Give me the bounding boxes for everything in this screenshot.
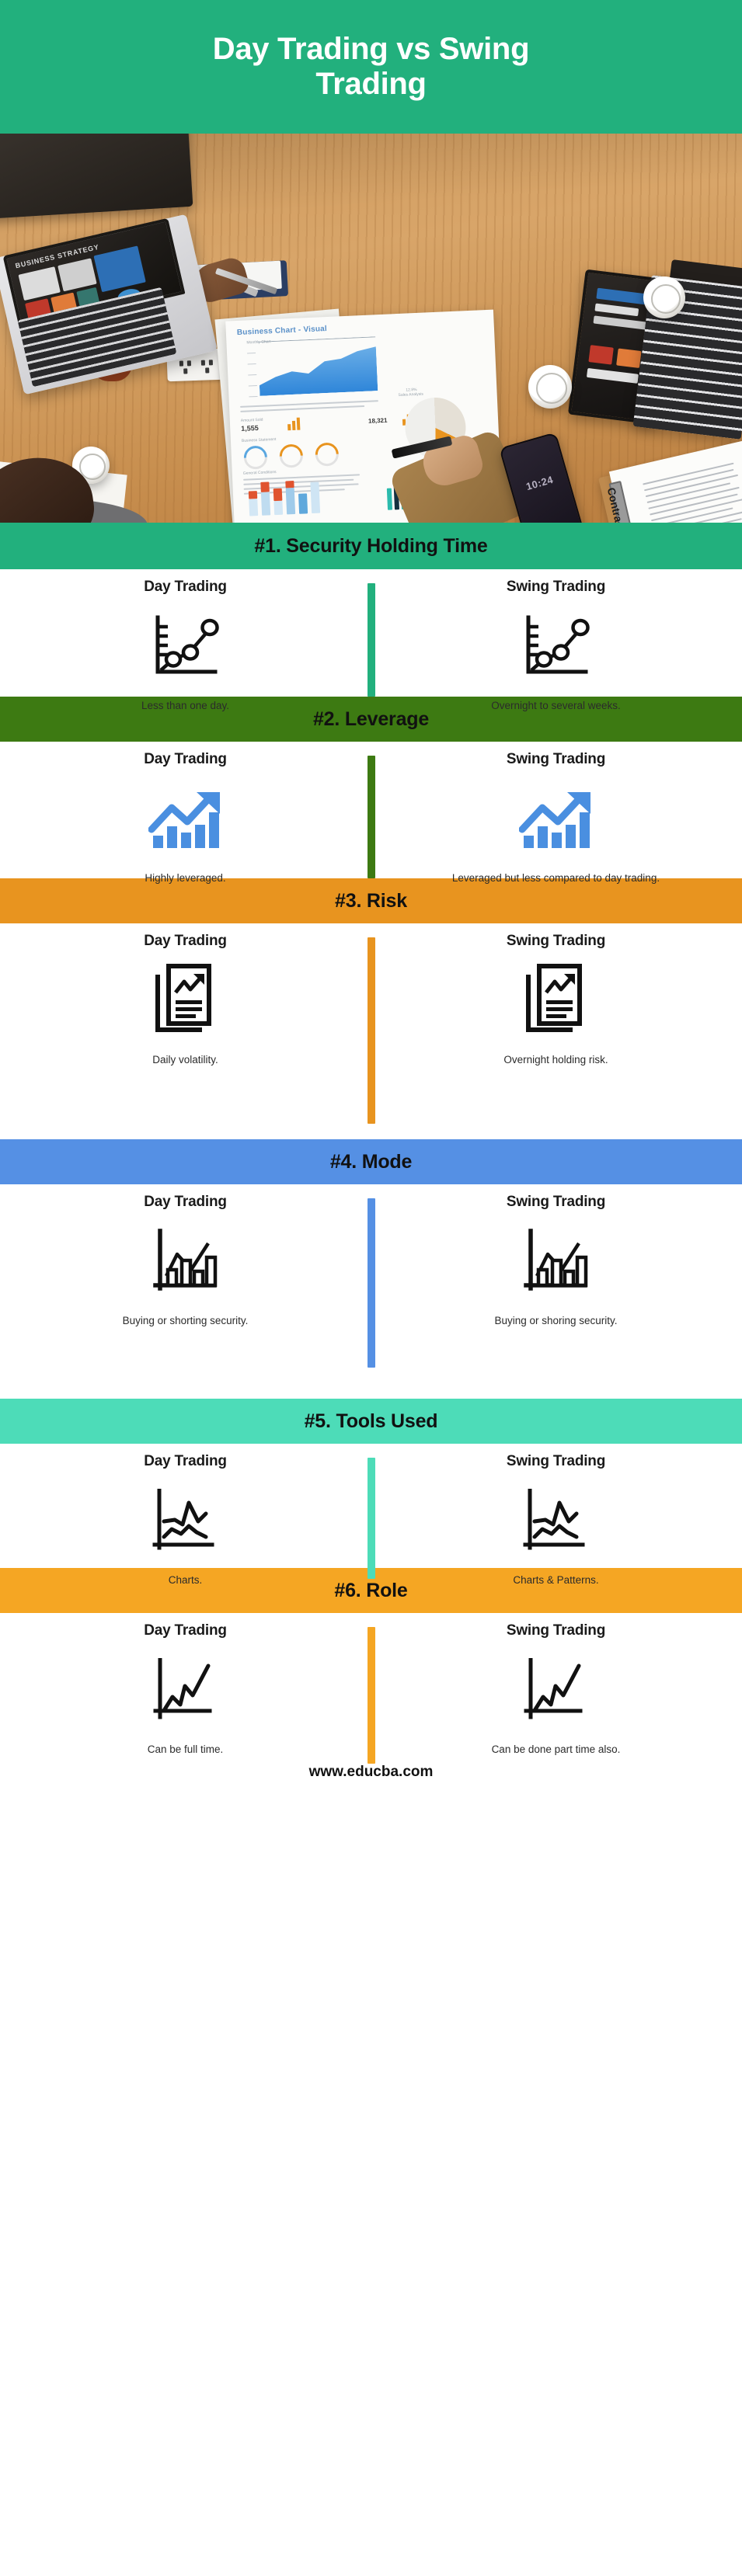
- section-6-swing-trading-column: Swing Trading Can be done part time also…: [371, 1613, 741, 1757]
- bar-chart-trendline-icon: [520, 1222, 593, 1302]
- section-banner-1: #1. Security Holding Time: [0, 523, 742, 569]
- column-description: Daily volatility.: [152, 1052, 218, 1068]
- section-divider-4: [368, 1198, 375, 1368]
- section-6-day-trading-column: Day Trading Can be full time.: [0, 1613, 371, 1757]
- bar-chart-arrow-up-icon: [148, 779, 223, 860]
- section-body-3: Day Trading Daily volatility. Swing Tra: [0, 923, 742, 1104]
- column-title: Swing Trading: [507, 1622, 605, 1639]
- section-banner-5: #5. Tools Used: [0, 1399, 742, 1444]
- column-title: Swing Trading: [507, 933, 605, 950]
- section-5-day-trading-column: Day Trading Charts.: [0, 1444, 371, 1588]
- bar-chart-arrow-up-icon: [519, 779, 594, 860]
- column-description: Less than one day.: [141, 698, 229, 714]
- page-title-line-1: Day Trading vs Swing: [213, 32, 529, 67]
- column-description: Overnight holding risk.: [503, 1052, 608, 1068]
- zigzag-uptrend-chart-icon: [520, 1650, 593, 1731]
- section-2-swing-trading-column: Swing Trading Leveraged b: [371, 742, 741, 886]
- section-body-1: Day Trading Less than one day. Swing Tra…: [0, 569, 742, 697]
- page-title: Day Trading vs Swing Trading: [213, 32, 529, 102]
- report-stacked-bars: [243, 464, 361, 516]
- column-description: Charts.: [169, 1573, 203, 1588]
- section-body-6: Day Trading Can be full time. Swing Trad…: [0, 1613, 742, 1748]
- section-4-swing-trading-column: Swing Trading Buying or shoring security…: [371, 1184, 741, 1329]
- section-divider-1: [368, 583, 375, 697]
- column-title: Swing Trading: [507, 1194, 605, 1211]
- column-description: Charts & Patterns.: [513, 1573, 598, 1588]
- section-body-2: Day Trading Highly levera: [0, 742, 742, 878]
- section-1-day-trading-column: Day Trading Less than one day.: [0, 569, 371, 714]
- section-banner-4: #4. Mode: [0, 1139, 742, 1184]
- phone-clock: 10:24: [511, 470, 568, 496]
- section-body-5: Day Trading Charts. Swing Trading: [0, 1444, 742, 1568]
- column-title: Day Trading: [144, 579, 227, 596]
- title-banner: Day Trading vs Swing Trading: [0, 0, 742, 134]
- column-description: Can be full time.: [148, 1742, 224, 1757]
- hero-photo: BUSINESS STRATEGY Business Chart - Visua…: [0, 134, 742, 523]
- section-4-day-trading-column: Day Trading Buying or shorting security.: [0, 1184, 371, 1329]
- section-5-swing-trading-column: Swing Trading Charts & Patterns.: [371, 1444, 741, 1588]
- column-title: Swing Trading: [507, 579, 605, 596]
- report-title: Business Chart - Visual: [237, 325, 327, 337]
- laptop-top-left: [0, 134, 193, 219]
- section-divider-3: [368, 937, 375, 1124]
- report-document-chart-icon: [522, 961, 590, 1041]
- report-document-chart-icon: [152, 961, 220, 1041]
- section-2-day-trading-column: Day Trading Highly levera: [0, 742, 371, 886]
- column-title: Day Trading: [144, 1622, 227, 1639]
- dual-line-chart-icon: [519, 1481, 594, 1562]
- section-3-swing-trading-column: Swing Trading Overnight holding risk.: [371, 923, 741, 1068]
- coffee-cup-top-right: [643, 276, 685, 318]
- column-title: Swing Trading: [507, 751, 605, 768]
- line-chart-nodes-icon: [521, 607, 592, 687]
- column-description: Leveraged but less compared to day tradi…: [452, 871, 660, 886]
- section-title-4: #4. Mode: [330, 1151, 412, 1173]
- footer-url[interactable]: www.educba.com: [309, 1764, 434, 1781]
- coffee-cup-center: [528, 365, 572, 408]
- column-description: Buying or shoring security.: [494, 1313, 617, 1329]
- column-title: Day Trading: [144, 1194, 227, 1211]
- column-description: Can be done part time also.: [492, 1742, 621, 1757]
- page-title-line-2: Trading: [213, 67, 529, 102]
- section-title-5: #5. Tools Used: [305, 1410, 438, 1433]
- column-title: Day Trading: [144, 751, 227, 768]
- line-chart-nodes-icon: [150, 607, 221, 687]
- column-description: Highly leveraged.: [145, 871, 225, 886]
- zigzag-uptrend-chart-icon: [149, 1650, 222, 1731]
- section-divider-5: [368, 1458, 375, 1579]
- column-title: Day Trading: [144, 933, 227, 950]
- bar-chart-trendline-icon: [149, 1222, 222, 1302]
- dual-line-chart-icon: [148, 1481, 223, 1562]
- section-title-3: #3. Risk: [335, 890, 407, 913]
- section-divider-6: [368, 1627, 375, 1764]
- column-title: Day Trading: [144, 1453, 227, 1470]
- column-title: Swing Trading: [507, 1453, 605, 1470]
- section-title-1: #1. Security Holding Time: [254, 535, 487, 558]
- section-body-4: Day Trading Buying or shorting security.…: [0, 1184, 742, 1349]
- section-divider-2: [368, 756, 375, 878]
- infographic-page: Day Trading vs Swing Trading: [0, 0, 742, 2576]
- column-description: Buying or shorting security.: [123, 1313, 249, 1329]
- section-3-day-trading-column: Day Trading Daily volatility.: [0, 923, 371, 1068]
- column-description: Overnight to several weeks.: [491, 698, 621, 714]
- section-1-swing-trading-column: Swing Trading Overnight to several weeks…: [371, 569, 741, 714]
